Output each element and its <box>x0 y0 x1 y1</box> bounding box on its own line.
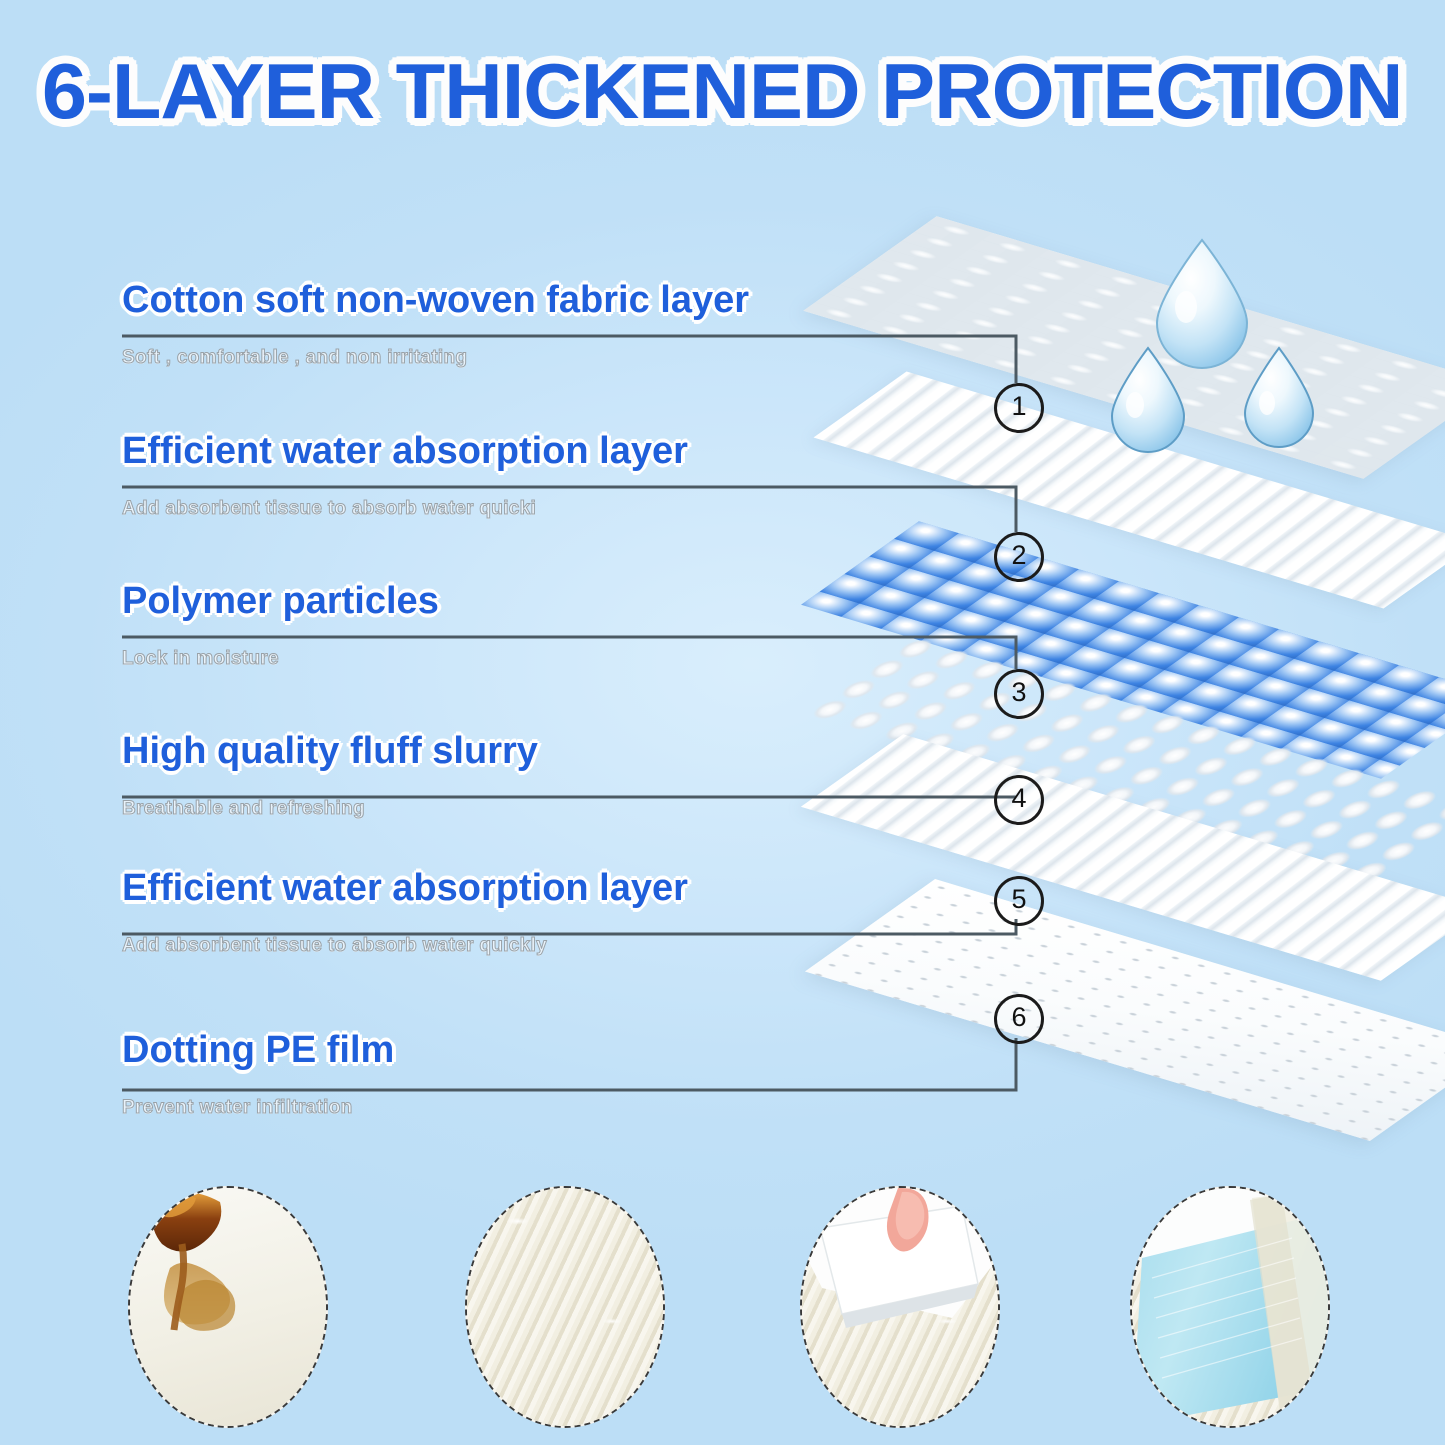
layer-title-1: Cotton soft non-woven fabric layer <box>122 280 1022 321</box>
layer-title-3: Polymer particles <box>122 581 1022 622</box>
layer-subtitle-6: Prevent water infiltration <box>122 1097 1022 1119</box>
photo-blue-white-layer-edge <box>1130 1186 1330 1428</box>
layer-title-6: Dotting PE film <box>122 1030 1022 1071</box>
layer-title-5: Efficient water absorption layer <box>122 868 1022 909</box>
water-drop-small-highlight <box>1259 391 1275 415</box>
photo-finger-lift-image <box>802 1188 998 1426</box>
layer-subtitle-2: Add absorbent tissue to absorb water qui… <box>122 498 1022 520</box>
layer-callout-1: Cotton soft non-woven fabric layer Soft … <box>122 280 1022 369</box>
layer-callout-5: Efficient water absorption layer Add abs… <box>122 868 1022 957</box>
water-drop-medium <box>1112 348 1184 452</box>
photo-fluff-pulp-texture <box>465 1186 665 1428</box>
photo-layer-edge-image <box>1132 1188 1328 1426</box>
layer-number-badge-2: 2 <box>994 532 1044 582</box>
water-drop-large <box>1157 240 1247 368</box>
layer-title-4: High quality fluff slurry <box>122 731 1022 772</box>
photo-finger-lifting-pad <box>800 1186 1000 1428</box>
layer-number-badge-1: 1 <box>994 383 1044 433</box>
layer-callout-2: Efficient water absorption layer Add abs… <box>122 431 1022 520</box>
layer-callout-4: High quality fluff slurry Breathable and… <box>122 731 1022 820</box>
layer-number-badge-3: 3 <box>994 669 1044 719</box>
product-infographic-poster: 6-LAYER THICKENED PROTECTION <box>0 0 1445 1445</box>
water-drop-medium-highlight <box>1126 392 1144 418</box>
water-drop-large-highlight <box>1175 291 1197 323</box>
poster-title: 6-LAYER THICKENED PROTECTION <box>42 52 1403 130</box>
layer-subtitle-1: Soft , comfortable , and non irritating <box>122 347 1022 369</box>
layer-subtitle-4: Breathable and refreshing <box>122 798 1022 820</box>
water-drop-small <box>1245 348 1313 447</box>
product-photo-row <box>0 1186 1445 1436</box>
layer-callout-6: Dotting PE film Prevent water infiltrati… <box>122 1030 1022 1119</box>
photo-liquid-pour-image <box>130 1188 326 1426</box>
layer-callout-3: Polymer particles Lock in moisture <box>122 581 1022 670</box>
layer-subtitle-3: Lock in moisture <box>122 648 1022 670</box>
photo-liquid-pour-absorption <box>128 1186 328 1428</box>
photo-fluff-texture-image <box>467 1188 663 1426</box>
poster-title-wrap: 6-LAYER THICKENED PROTECTION <box>0 52 1445 130</box>
layer-subtitle-5: Add absorbent tissue to absorb water qui… <box>122 935 1022 957</box>
layer-title-2: Efficient water absorption layer <box>122 431 1022 472</box>
